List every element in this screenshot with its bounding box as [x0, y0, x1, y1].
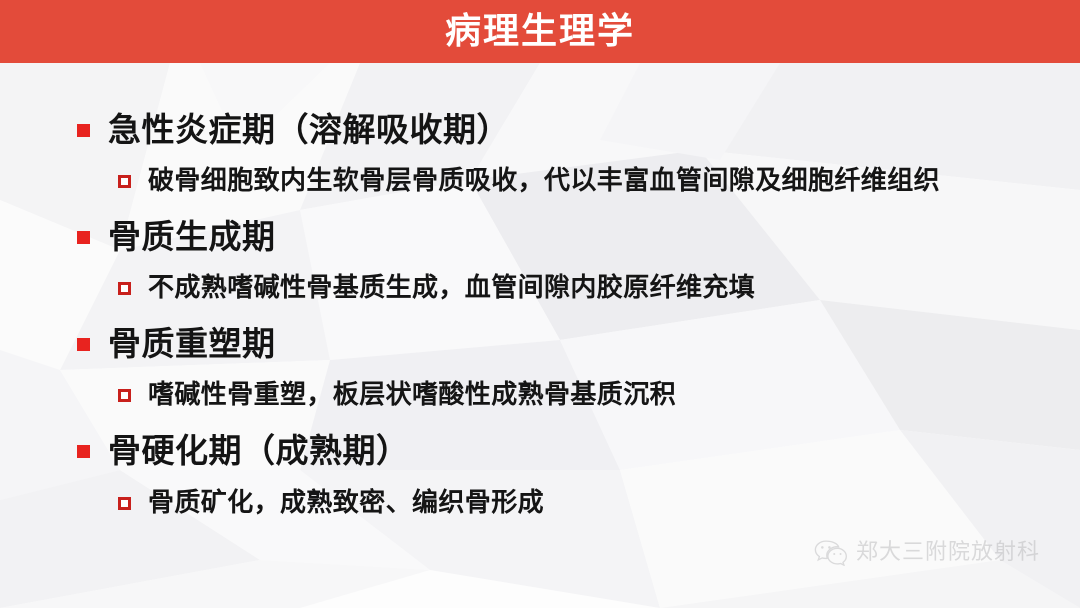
bullet-level2-text: 破骨细胞致内生软骨层骨质吸收，代以丰富血管间隙及细胞纤维组织 — [148, 164, 940, 197]
bullet-level2-3: 骨质矿化，成熟致密、编织骨形成 — [118, 486, 544, 519]
bullet-level1-2: 骨质重塑期 — [77, 325, 276, 365]
hollow-square-bullet-icon — [118, 497, 131, 510]
page-title: 病理生理学 — [445, 13, 635, 51]
bullet-level1-text: 急性炎症期（溶解吸收期） — [108, 111, 510, 151]
hollow-square-bullet-icon — [118, 282, 131, 295]
bullet-level2-text: 骨质矿化，成熟致密、编织骨形成 — [148, 486, 544, 519]
bullet-level2-1: 不成熟嗜碱性骨基质生成，血管间隙内胶原纤维充填 — [118, 271, 755, 304]
bullet-level2-text: 嗜碱性骨重塑，板层状嗜酸性成熟骨基质沉积 — [148, 378, 676, 411]
slide-canvas: 病理生理学 急性炎症期（溶解吸收期） 破骨细胞致内生软骨层骨质吸收，代以丰富血管… — [0, 0, 1080, 608]
bullet-level1-0: 急性炎症期（溶解吸收期） — [77, 111, 510, 151]
filled-square-bullet-icon — [77, 338, 90, 351]
hollow-square-bullet-icon — [118, 175, 131, 188]
slide-content: 急性炎症期（溶解吸收期） 破骨细胞致内生软骨层骨质吸收，代以丰富血管间隙及细胞纤… — [0, 63, 1080, 608]
bullet-level1-text: 骨质生成期 — [108, 218, 276, 258]
wechat-icon — [813, 538, 847, 566]
bullet-level2-text: 不成熟嗜碱性骨基质生成，血管间隙内胶原纤维充填 — [148, 271, 755, 304]
watermark: 郑大三附院放射科 — [813, 538, 1040, 566]
filled-square-bullet-icon — [77, 231, 90, 244]
bullet-level1-text: 骨质重塑期 — [108, 325, 276, 365]
filled-square-bullet-icon — [77, 124, 90, 137]
bullet-level1-1: 骨质生成期 — [77, 218, 276, 258]
filled-square-bullet-icon — [77, 445, 90, 458]
bullet-level2-2: 嗜碱性骨重塑，板层状嗜酸性成熟骨基质沉积 — [118, 378, 676, 411]
bullet-level1-text: 骨硬化期（成熟期） — [108, 432, 410, 472]
title-banner: 病理生理学 — [0, 0, 1080, 63]
bullet-level2-0: 破骨细胞致内生软骨层骨质吸收，代以丰富血管间隙及细胞纤维组织 — [118, 164, 940, 197]
hollow-square-bullet-icon — [118, 389, 131, 402]
watermark-text: 郑大三附院放射科 — [856, 541, 1040, 563]
bullet-level1-3: 骨硬化期（成熟期） — [77, 432, 410, 472]
